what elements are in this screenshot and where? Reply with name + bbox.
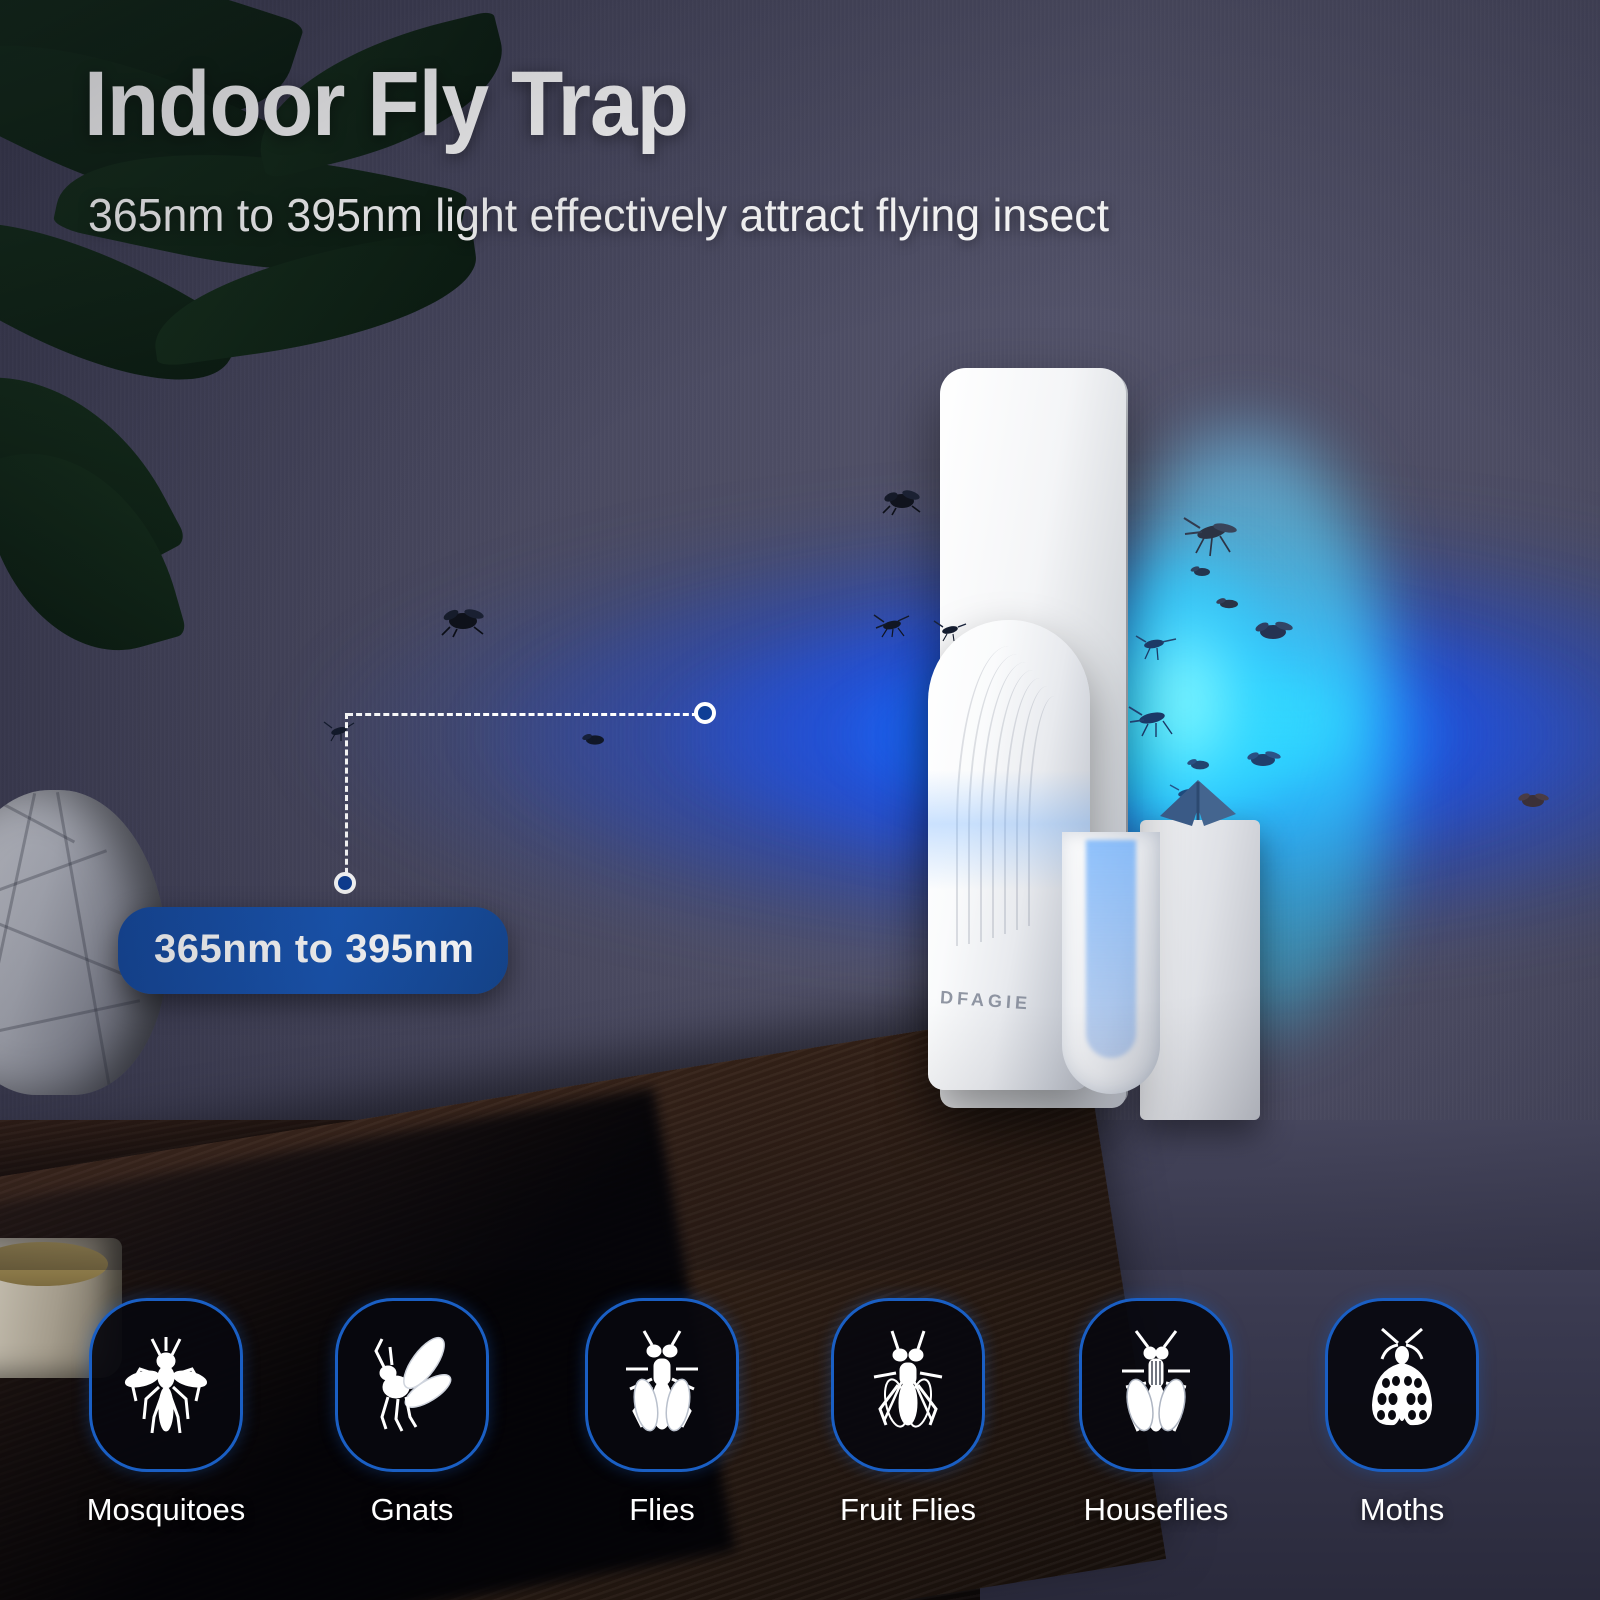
mosquito-icon (89, 1298, 243, 1472)
pest-item-houseflies[interactable]: Houseflies (1066, 1298, 1246, 1528)
fly-icon (585, 1298, 739, 1472)
fly-glyph (610, 1325, 714, 1445)
scene-vignette (0, 0, 1600, 1270)
pest-item-flies[interactable]: Flies (572, 1298, 752, 1528)
product-infographic: DFAGIE (0, 0, 1600, 1600)
gnat-glyph (360, 1325, 464, 1445)
pest-item-mosquitoes[interactable]: Mosquitoes (76, 1298, 256, 1528)
pest-item-moths[interactable]: Moths (1312, 1298, 1492, 1528)
pest-label: Fruit Flies (818, 1492, 998, 1528)
moth-icon (1325, 1298, 1479, 1472)
pest-label: Flies (572, 1492, 752, 1528)
pest-label: Mosquitoes (76, 1492, 256, 1528)
fruit-fly-glyph (856, 1325, 960, 1445)
pest-icon-row: Mosquitoes G (0, 1298, 1600, 1598)
pest-label: Houseflies (1066, 1492, 1246, 1528)
housefly-icon (1079, 1298, 1233, 1472)
mosquito-glyph (114, 1325, 218, 1445)
pest-label: Gnats (322, 1492, 502, 1528)
fruit-fly-icon (831, 1298, 985, 1472)
moth-glyph (1350, 1325, 1454, 1445)
gnat-icon (335, 1298, 489, 1472)
housefly-glyph (1104, 1325, 1208, 1445)
pest-item-fruit-flies[interactable]: Fruit Flies (818, 1298, 998, 1528)
pest-label: Moths (1312, 1492, 1492, 1528)
pest-item-gnats[interactable]: Gnats (322, 1298, 502, 1528)
